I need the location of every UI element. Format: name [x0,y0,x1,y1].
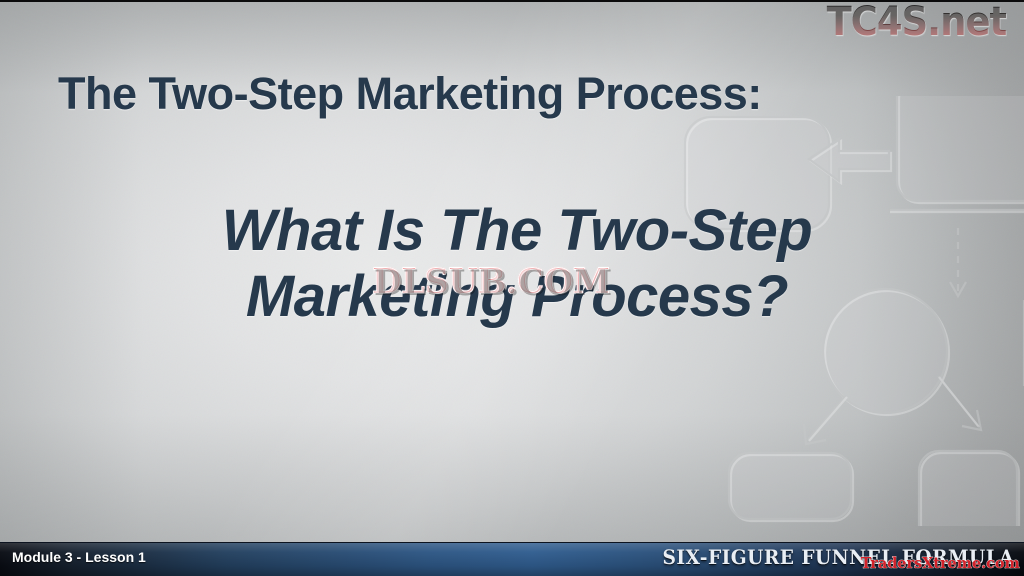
watermark-tradersxtreme: TradersXtreme.com [861,556,1020,571]
watermark-dlsub: DLSUB.COM [372,264,610,299]
slide-canvas: .fc { fill:none; stroke:#c6c8c9; stroke-… [0,0,1024,576]
watermark-dlsub-text: DLSUB.COM [372,261,610,302]
page-title: The Two-Step Marketing Process: [58,70,988,117]
subtitle-line-1: What Is The Two-Step [52,198,982,264]
watermark-tc4s: TC4S.net [826,2,1006,42]
lesson-label: Module 3 - Lesson 1 [12,549,146,565]
footer-bar: Module 3 - Lesson 1 SIX-FIGURE FUNNEL FO… [0,542,1024,576]
